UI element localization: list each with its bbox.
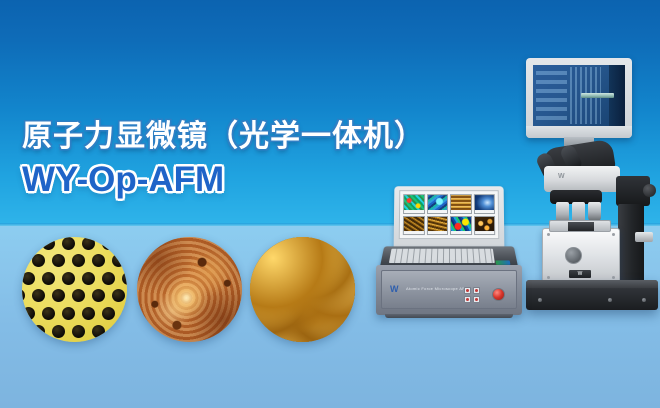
- vertical-support-column: [618, 204, 644, 286]
- controller-button[interactable]: [464, 287, 471, 294]
- base-top-surface: [526, 280, 658, 288]
- controller-chassis: W Atomic Force Microscope AFM: [376, 265, 522, 315]
- panel-screw: [547, 276, 550, 279]
- stage-adjust-knob[interactable]: [565, 247, 582, 264]
- pore-dot-layer: [22, 237, 127, 342]
- panel-screw: [612, 233, 615, 236]
- grain-surface: [250, 237, 355, 342]
- afm-optical-microscope: W W: [506, 58, 660, 320]
- focus-knob[interactable]: [635, 232, 653, 242]
- scan-thumbnail: [426, 216, 448, 236]
- controller-button-grid[interactable]: [464, 287, 480, 303]
- afm-scanner-stage: W: [542, 228, 620, 284]
- controller-front-panel: W Atomic Force Microscope AFM: [381, 270, 517, 309]
- microscope-head-body: W: [544, 166, 620, 192]
- display-monitor: [526, 58, 632, 138]
- monitor-screen: [533, 65, 625, 126]
- title-block: 原子力显微镜（光学一体机） WY-Op-AFM: [22, 118, 425, 202]
- objective-lens: [588, 202, 601, 222]
- sample-stage: [549, 220, 611, 232]
- controller-button[interactable]: [473, 287, 480, 294]
- controller-button[interactable]: [473, 296, 480, 303]
- illumination-arm: [616, 176, 650, 206]
- base-screw: [608, 298, 612, 302]
- illumination-knob[interactable]: [643, 184, 656, 197]
- base-screw: [642, 298, 646, 302]
- brand-logo-icon: W: [390, 283, 402, 295]
- scan-thumbnail: [403, 216, 425, 236]
- scan-thumbnail: [473, 194, 495, 213]
- sample-holder-slot: [568, 222, 594, 231]
- power-button[interactable]: [492, 288, 505, 301]
- afm-scan-spiral-topography: [137, 237, 242, 342]
- product-banner: 原子力显微镜（光学一体机） WY-Op-AFM: [0, 0, 660, 408]
- product-model-number: WY-Op-AFM: [22, 158, 425, 202]
- afm-scan-nanopore-array: [22, 237, 127, 342]
- panel-screw: [547, 233, 550, 236]
- controller-base: [385, 314, 513, 318]
- cantilever-probe: [581, 93, 614, 98]
- afm-scan-granular-surface: [250, 237, 355, 342]
- scan-thumbnail: [427, 194, 448, 213]
- optical-view-left: [536, 70, 567, 120]
- panel-screw: [612, 276, 615, 279]
- scan-thumbnail: [450, 194, 471, 213]
- controller-button[interactable]: [464, 296, 471, 303]
- spiral-surface: [137, 237, 242, 342]
- scan-thumbnail: [450, 216, 472, 236]
- keyboard-keys: [389, 249, 495, 263]
- base-screw: [538, 298, 542, 302]
- brand-logo-icon: W: [569, 270, 591, 278]
- brand-logo-icon: W: [558, 173, 565, 180]
- scan-thumbnail: [473, 216, 495, 236]
- control-workstation: W Atomic Force Microscope AFM: [376, 186, 522, 322]
- controller-label: Atomic Force Microscope AFM: [406, 286, 469, 291]
- anti-vibration-base: [526, 280, 658, 310]
- product-title-chinese: 原子力显微镜（光学一体机）: [22, 118, 425, 156]
